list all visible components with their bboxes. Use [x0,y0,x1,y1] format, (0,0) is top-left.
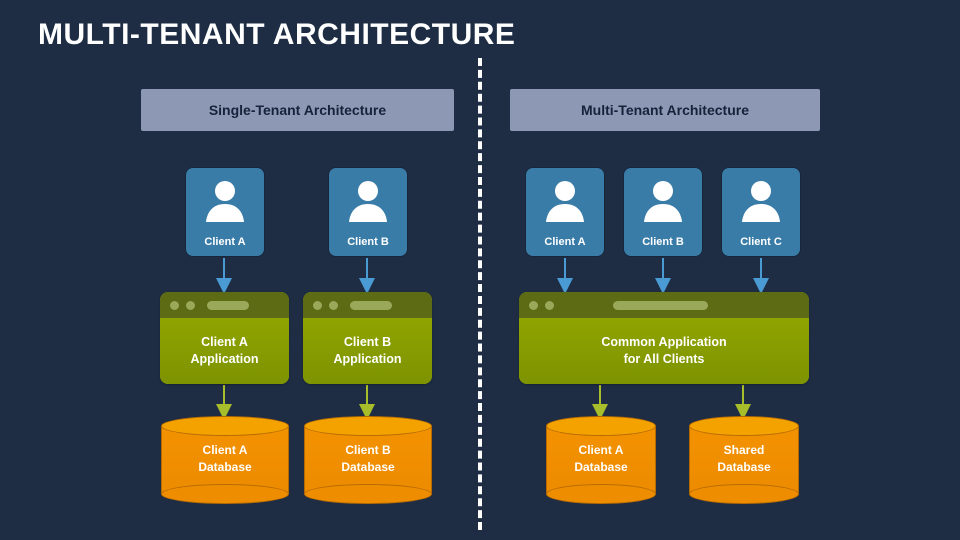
database-cylinder-top [689,416,799,436]
user-avatar-icon [640,178,686,226]
user-avatar-icon [738,178,784,226]
database-cylinder-bottom [689,484,799,504]
client-card-a-right[interactable]: Client A [526,168,604,256]
database-label-line2: Database [717,460,770,474]
database-cylinder-bottom [546,484,656,504]
server-window-icon [519,292,809,318]
window-dot [545,301,554,310]
database-label-line1: Client A [579,443,624,457]
window-dot [529,301,538,310]
app-label-line1: Common Application [601,335,726,349]
database-client-a-right[interactable]: Client A Database [546,416,656,504]
app-label-line2: for All Clients [624,352,705,366]
multi-tenant-panel: Multi-Tenant Architecture Client A Clien… [0,0,960,540]
window-pill [613,301,708,310]
app-box-common[interactable]: Common Application for All Clients [519,292,809,384]
database-label-line1: Shared [724,443,765,457]
database-label: Shared Database [689,442,799,476]
database-label: Client A Database [546,442,656,476]
app-box-label: Common Application for All Clients [519,318,809,384]
client-card-label: Client A [544,236,585,248]
database-label-line2: Database [574,460,627,474]
database-shared[interactable]: Shared Database [689,416,799,504]
client-card-c-right[interactable]: Client C [722,168,800,256]
client-card-label: Client C [740,236,782,248]
multi-tenant-header: Multi-Tenant Architecture [510,89,820,131]
client-card-b-right[interactable]: Client B [624,168,702,256]
database-cylinder-top [546,416,656,436]
user-avatar-icon [542,178,588,226]
client-card-label: Client B [642,236,684,248]
